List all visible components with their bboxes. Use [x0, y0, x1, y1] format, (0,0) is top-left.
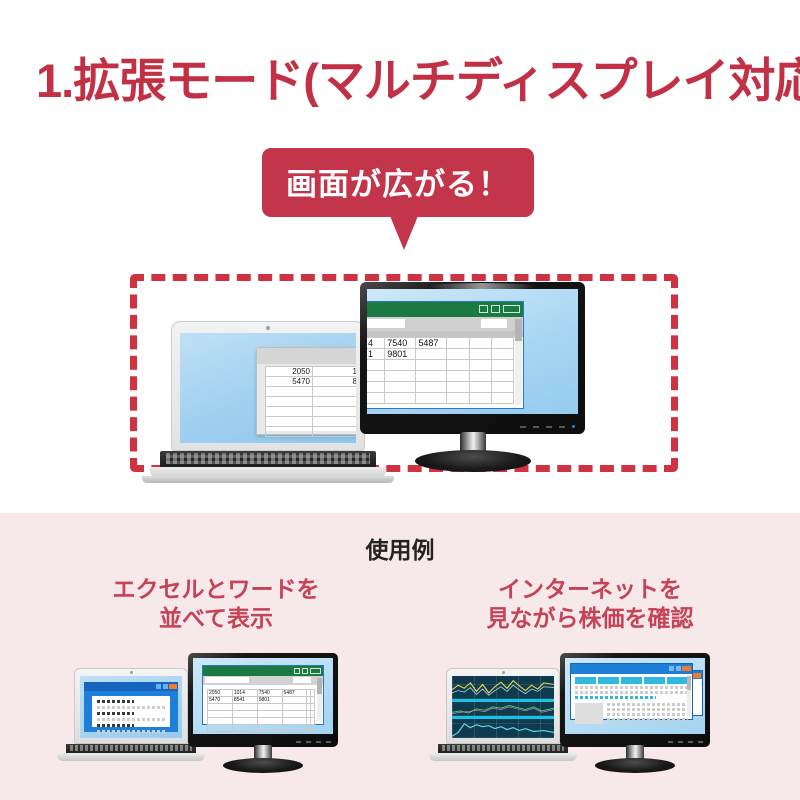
cell: [491, 338, 513, 349]
cell: [282, 718, 307, 725]
table-row: [367, 382, 514, 393]
chart-lines: [452, 702, 554, 716]
cell: [447, 338, 469, 349]
cell: [367, 360, 385, 371]
cell: 5487: [282, 690, 307, 697]
excel-toolbar: [203, 676, 323, 685]
close-icon[interactable]: [169, 684, 177, 689]
maximize-icon[interactable]: [491, 305, 500, 313]
table-row: 2050 1014 7540 5487: [208, 690, 315, 697]
browser-title-bar: [571, 664, 692, 674]
down-button-icon[interactable]: [546, 426, 552, 428]
cell: [491, 349, 513, 360]
text-line: [97, 712, 134, 715]
usecase-caption-left: エクセルとワードを 並べて表示: [36, 575, 396, 634]
word-window: [84, 682, 178, 732]
webcam-icon: [502, 671, 505, 674]
cell: [257, 704, 282, 711]
monitor-control-buttons[interactable]: [296, 741, 331, 743]
minimize-icon[interactable]: [479, 305, 488, 313]
toolbar-field-right: [293, 677, 311, 683]
minimize-icon[interactable]: [294, 668, 300, 674]
text-line: [607, 703, 688, 706]
caption-line-2: 見ながら株価を確認: [410, 604, 770, 633]
cell: [416, 371, 447, 382]
monitor-stand-base: [223, 758, 303, 773]
vertical-scrollbar[interactable]: [515, 319, 522, 405]
cell: [311, 711, 315, 718]
cell: [232, 718, 257, 725]
caption-line-1: インターネットを: [410, 575, 770, 604]
cell: [266, 397, 313, 407]
cell: [313, 427, 357, 437]
cell: [367, 382, 385, 393]
excel-grid: 2050 1014 7540 5487 5470 8541: [207, 689, 315, 720]
cell: 1: [367, 349, 385, 360]
scrollbar-thumb[interactable]: [515, 319, 522, 341]
webcam-icon: [130, 671, 133, 674]
word-document-page: [92, 696, 170, 727]
laptop-keyboard-deck: [438, 744, 568, 753]
example-left-laptop: [66, 668, 196, 764]
cell: 5487: [416, 338, 447, 349]
excel-title-bar: [367, 302, 523, 317]
hero-laptop-spreadsheet-window: 2050 1 5470 8: [256, 347, 356, 435]
cell: [469, 393, 491, 404]
caption-line-1: エクセルとワードを: [36, 575, 396, 604]
cell: 9801: [385, 349, 416, 360]
laptop-lid: [74, 668, 188, 744]
menu-button-icon[interactable]: [668, 741, 673, 743]
toolbar-field-left: [205, 677, 249, 683]
cell: [491, 371, 513, 382]
chart-lines: [452, 719, 554, 738]
maximize-icon[interactable]: [302, 668, 308, 674]
laptop-lid: [446, 668, 560, 744]
cell: [232, 725, 257, 732]
cell: [385, 371, 416, 382]
cell: [385, 393, 416, 404]
keyboard-keys: [442, 745, 564, 751]
cell: [385, 360, 416, 371]
example-left-monitor: 2050 1014 7540 5487 5470 8541: [188, 653, 338, 771]
cell: [282, 711, 307, 718]
cell: [469, 371, 491, 382]
webcam-icon: [266, 326, 270, 330]
power-led-icon: [572, 425, 575, 428]
table-row: [367, 371, 514, 382]
cell: 9801: [257, 697, 282, 704]
cell: [491, 360, 513, 371]
browser-content-rows: [571, 686, 692, 699]
cell: 4: [367, 338, 385, 349]
cell: [257, 711, 282, 718]
cell: [313, 397, 357, 407]
cell: 2050: [266, 367, 313, 377]
laptop-keyboard-deck: [66, 744, 196, 753]
table-row: [266, 427, 357, 437]
cell: [282, 697, 307, 704]
cell: 8: [313, 377, 357, 387]
spreadsheet-table: 2050 1 5470 8: [265, 366, 356, 437]
cell: [447, 393, 469, 404]
table-row: [208, 704, 315, 711]
close-icon[interactable]: [693, 673, 701, 678]
table-row: [208, 725, 315, 732]
cell: [469, 338, 491, 349]
maximize-icon[interactable]: [163, 684, 168, 689]
usecase-heading: 使用例: [0, 531, 800, 565]
text-line: [575, 691, 688, 694]
table-row: [367, 393, 514, 404]
table-row: [266, 417, 357, 427]
monitor-stand-base: [595, 758, 675, 773]
cell: [469, 382, 491, 393]
page-title: 1.拡張モード(マルチディスプレイ対応): [36, 42, 800, 111]
cell: [311, 725, 315, 732]
cell: [232, 711, 257, 718]
cell: [208, 711, 233, 718]
hero-laptop-screen: 2050 1 5470 8: [180, 333, 356, 443]
nav-tab[interactable]: [621, 677, 642, 684]
excel-window: 4 7540 5487 1 9801: [367, 301, 524, 409]
input-button-icon[interactable]: [326, 741, 331, 743]
laptop-front-edge: [429, 753, 577, 761]
cell: [282, 704, 307, 711]
down-button-icon[interactable]: [688, 741, 693, 743]
text-line: [607, 708, 688, 711]
text-line: [575, 686, 688, 689]
table-row: 5470 8: [266, 377, 357, 387]
example-right-monitor: [560, 653, 710, 771]
content-text-block: [607, 703, 688, 724]
keyboard-keys: [70, 745, 192, 751]
cell: [447, 349, 469, 360]
close-icon[interactable]: [310, 668, 321, 674]
text-line: [97, 718, 165, 721]
text-line: [607, 713, 688, 716]
cell: [266, 407, 313, 417]
hero-monitor: 4 7540 5487 1 9801: [360, 282, 585, 474]
vertical-scrollbar[interactable]: [317, 678, 322, 721]
cell: [266, 387, 313, 397]
browser-nav-tabs[interactable]: [571, 674, 692, 686]
cell: [416, 360, 447, 371]
table-row: [266, 407, 357, 417]
text-line: [97, 724, 134, 727]
nav-tab[interactable]: [644, 677, 665, 684]
stock-chart-app: [452, 676, 554, 738]
monitor-screen: 2050 1014 7540 5487 5470 8541: [193, 658, 333, 734]
menu-button-icon[interactable]: [520, 426, 526, 428]
excel-window: 2050 1014 7540 5487 5470 8541: [202, 665, 324, 725]
cell: [208, 718, 233, 725]
nav-tab[interactable]: [575, 677, 596, 684]
nav-tab[interactable]: [598, 677, 619, 684]
close-icon[interactable]: [503, 305, 520, 313]
up-button-icon[interactable]: [533, 426, 539, 428]
example-right-laptop: [438, 668, 568, 764]
toolbar-field-left: [367, 319, 405, 328]
window-controls[interactable]: [479, 305, 520, 313]
browser-window: [570, 663, 693, 720]
text-line: [607, 718, 688, 721]
table-row: 2050 1: [266, 367, 357, 377]
cell: [313, 417, 357, 427]
close-icon[interactable]: [682, 666, 691, 671]
cell: [416, 393, 447, 404]
cell: [257, 718, 282, 725]
usecase-section: 使用例 エクセルとワードを 並べて表示 インターネットを 見ながら株価を確認: [0, 513, 800, 800]
cell: [447, 382, 469, 393]
input-button-icon[interactable]: [698, 741, 703, 743]
minimize-icon[interactable]: [669, 666, 674, 671]
laptop-screen: [80, 676, 182, 738]
cell: 5470: [266, 377, 313, 387]
cell: [266, 417, 313, 427]
hero-laptop-lid: 2050 1 5470 8: [171, 321, 365, 451]
keyboard-keys: [166, 453, 370, 464]
monitor-screen: [565, 658, 705, 734]
toolbar-field-right: [481, 319, 507, 328]
maximize-icon[interactable]: [676, 666, 681, 671]
table-row: [266, 387, 357, 397]
cell: [491, 393, 513, 404]
scrollbar-thumb[interactable]: [317, 678, 322, 694]
table-row: [266, 397, 357, 407]
stock-chart-panel-middle: [452, 702, 554, 719]
cell: [311, 718, 315, 725]
table-row: [208, 718, 315, 725]
minimize-icon[interactable]: [156, 684, 161, 689]
text-line: [97, 700, 134, 703]
spreadsheet-grid: 2050 1 5470 8: [265, 366, 356, 431]
cell: [469, 360, 491, 371]
table-row: 1 9801: [367, 349, 514, 360]
hero-laptop-front-edge: [142, 476, 394, 483]
cell: [416, 382, 447, 393]
infographic-page: 1.拡張モード(マルチディスプレイ対応) 画面が広がる！ 2050 1: [0, 0, 800, 800]
cell: 1: [313, 367, 357, 377]
table-row: 4 7540 5487: [367, 338, 514, 349]
monitor-stand-base: [415, 450, 531, 472]
hero-monitor-bezel: 4 7540 5487 1 9801: [360, 282, 585, 434]
cell: [447, 360, 469, 371]
window-controls[interactable]: [294, 668, 321, 674]
nav-tab[interactable]: [667, 677, 688, 684]
spreadsheet-table: 4 7540 5487 1 9801: [367, 337, 514, 404]
caption-line-2: 並べて表示: [36, 604, 396, 633]
cell: [491, 382, 513, 393]
cell: 2050: [208, 690, 233, 697]
cell: [447, 371, 469, 382]
cell: [266, 427, 313, 437]
excel-grid: 4 7540 5487 1 9801: [367, 337, 514, 405]
scrollbar-thumb[interactable]: [687, 676, 691, 690]
cell: [311, 690, 315, 697]
table-row: 5470 8541 9801: [208, 697, 315, 704]
stock-chart-panel-top: [452, 676, 554, 702]
laptop-screen: [452, 676, 554, 738]
highlighted-text-line: [575, 696, 656, 699]
monitor-control-buttons[interactable]: [520, 425, 575, 428]
cell: [311, 697, 315, 704]
cell: [282, 725, 307, 732]
cell: [257, 725, 282, 732]
cell: [367, 393, 385, 404]
excel-toolbar: [367, 317, 523, 331]
laptop-front-edge: [57, 753, 205, 761]
hero-monitor-screen: 4 7540 5487 1 9801: [367, 289, 578, 414]
cell: [232, 704, 257, 711]
monitor-bezel: [560, 653, 710, 747]
up-button-icon[interactable]: [678, 741, 683, 743]
cell: 7540: [385, 338, 416, 349]
cell: [208, 725, 233, 732]
cell: [208, 704, 233, 711]
input-button-icon[interactable]: [559, 426, 565, 428]
cell: [469, 349, 491, 360]
excel-title-bar: [203, 666, 323, 676]
monitor-control-buttons[interactable]: [668, 741, 703, 743]
cell: 5470: [208, 697, 233, 704]
spreadsheet-table: 2050 1014 7540 5487 5470 8541: [207, 689, 315, 732]
cell: 8541: [232, 697, 257, 704]
browser-content-split: [571, 701, 692, 724]
word-title-bar: [84, 682, 178, 691]
spreadsheet-toolbar: [257, 348, 356, 364]
cell: [416, 349, 447, 360]
hero-laptop-keyboard-deck: [160, 451, 376, 467]
cell: 7540: [257, 690, 282, 697]
chart-lines: [452, 676, 554, 699]
monitor-bezel: 2050 1014 7540 5487 5470 8541: [188, 653, 338, 747]
hero-laptop: 2050 1 5470 8: [160, 321, 376, 491]
up-button-icon[interactable]: [306, 741, 311, 743]
text-line: [97, 706, 165, 709]
menu-button-icon[interactable]: [296, 741, 301, 743]
callout-bubble: 画面が広がる！: [262, 148, 534, 217]
cell: [313, 407, 357, 417]
table-row: [208, 711, 315, 718]
cell: [313, 387, 357, 397]
stock-chart-panel-bottom: [452, 719, 554, 738]
callout-tail-icon: [390, 216, 418, 250]
cell: 1014: [232, 690, 257, 697]
vertical-scrollbar[interactable]: [687, 676, 691, 717]
text-line: [97, 730, 165, 733]
down-button-icon[interactable]: [316, 741, 321, 743]
cell: [311, 704, 315, 711]
callout-text: 画面が広がる！: [262, 148, 534, 217]
usecase-caption-right: インターネットを 見ながら株価を確認: [410, 575, 770, 634]
cell: [385, 382, 416, 393]
table-row: [367, 360, 514, 371]
cell: [367, 371, 385, 382]
content-image-placeholder: [575, 703, 603, 724]
